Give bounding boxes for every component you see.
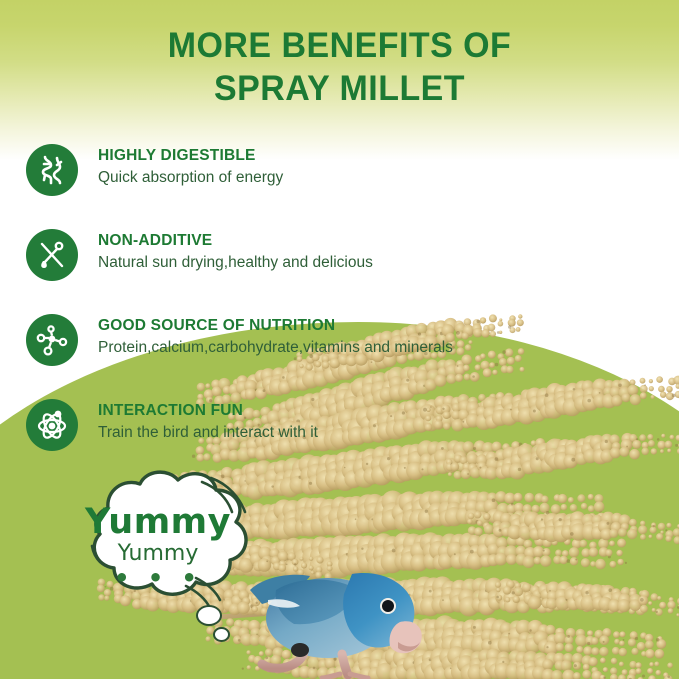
title-line-1: MORE BENEFITS OF xyxy=(10,24,669,67)
benefit-title: GOOD SOURCE OF NUTRITION xyxy=(98,317,453,335)
benefits-list: HIGHLY DIGESTIBLE Quick absorption of en… xyxy=(0,136,679,476)
thought-bubble: Yummy Yummy • • • xyxy=(56,466,286,616)
title-line-2: SPRAY MILLET xyxy=(10,67,669,110)
benefit-text-block: HIGHLY DIGESTIBLE Quick absorption of en… xyxy=(98,136,283,189)
benefit-item-good-source-of-nutrition: GOOD SOURCE OF NUTRITION Protein,calcium… xyxy=(0,306,679,391)
thought-bubble-trail-small xyxy=(213,627,230,642)
yummy-ellipsis-dots: • • • xyxy=(56,570,260,586)
thought-bubble-trail-large xyxy=(196,605,222,626)
benefit-title: INTERACTION FUN xyxy=(98,402,318,420)
benefit-subtitle: Quick absorption of energy xyxy=(98,167,283,189)
benefit-item-highly-digestible: HIGHLY DIGESTIBLE Quick absorption of en… xyxy=(0,136,679,221)
benefit-item-non-additive: NON-ADDITIVE Natural sun drying,healthy … xyxy=(0,221,679,306)
page-title: MORE BENEFITS OF SPRAY MILLET xyxy=(0,24,679,110)
benefit-subtitle: Natural sun drying,healthy and delicious xyxy=(98,252,373,274)
benefit-item-interaction-fun: INTERACTION FUN Train the bird and inter… xyxy=(0,391,679,476)
benefit-title: HIGHLY DIGESTIBLE xyxy=(98,147,283,165)
benefit-subtitle: Protein,calcium,carbohydrate,vitamins an… xyxy=(98,337,453,359)
atom-interaction-icon xyxy=(26,399,78,451)
benefit-title: NON-ADDITIVE xyxy=(98,232,373,250)
product-benefits-poster: MORE BENEFITS OF SPRAY MILLET HIGHLY DIG… xyxy=(0,0,679,679)
benefit-text-block: INTERACTION FUN Train the bird and inter… xyxy=(98,391,318,444)
no-additive-dropper-icon xyxy=(26,229,78,281)
benefit-subtitle: Train the bird and interact with it xyxy=(98,422,318,444)
benefit-text-block: NON-ADDITIVE Natural sun drying,healthy … xyxy=(98,221,373,274)
thought-bubble-text: Yummy Yummy • • • xyxy=(56,466,260,586)
yummy-primary-text: Yummy xyxy=(56,504,260,540)
intestine-icon xyxy=(26,144,78,196)
molecule-nutrition-icon xyxy=(26,314,78,366)
benefit-text-block: GOOD SOURCE OF NUTRITION Protein,calcium… xyxy=(98,306,453,359)
